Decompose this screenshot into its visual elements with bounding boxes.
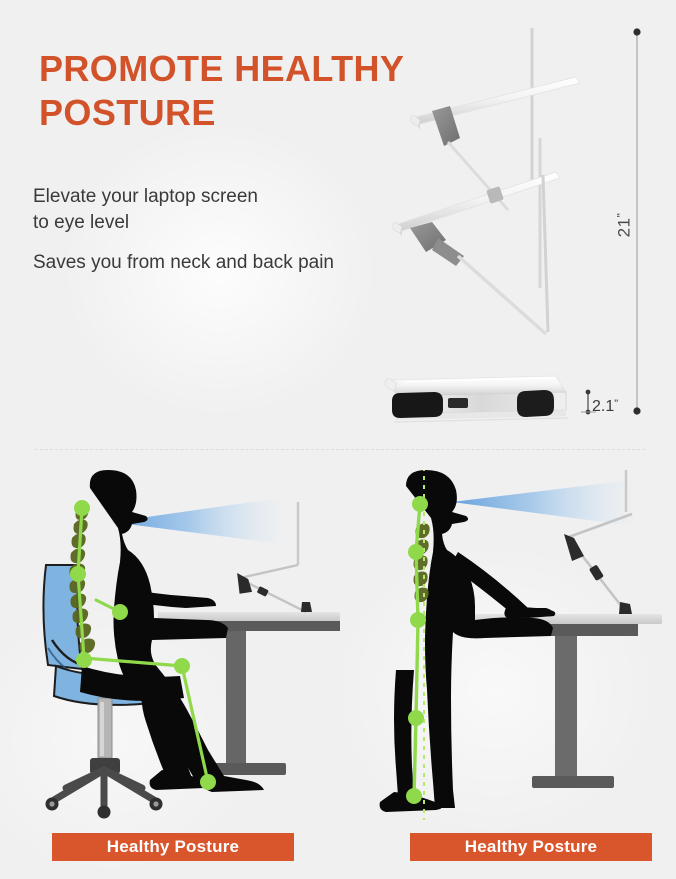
banner-label: Healthy Posture bbox=[465, 837, 597, 857]
person-standing bbox=[380, 470, 556, 820]
infographic-page: PROMOTE HEALTHY POSTURE Elevate your lap… bbox=[0, 0, 676, 879]
standing-desk bbox=[462, 614, 662, 788]
subtitle-elevate: Elevate your laptop screen to eye level bbox=[33, 184, 413, 236]
stand-position-high bbox=[411, 28, 581, 210]
section-divider bbox=[35, 449, 645, 450]
standing-posture-scene bbox=[370, 470, 676, 820]
seated-posture-scene bbox=[30, 470, 340, 820]
dimension-label-collapsed: 2.1" bbox=[592, 398, 618, 416]
banner-label: Healthy Posture bbox=[107, 837, 239, 857]
dimension-label-height: 21" bbox=[614, 213, 634, 238]
stand-position-mid bbox=[393, 138, 561, 334]
dimension-line-height bbox=[600, 20, 670, 430]
gaze-cone bbox=[452, 480, 634, 526]
stand-position-collapsed bbox=[385, 376, 568, 422]
banner-healthy-posture-right: Healthy Posture bbox=[410, 833, 652, 861]
banner-healthy-posture-left: Healthy Posture bbox=[52, 833, 294, 861]
